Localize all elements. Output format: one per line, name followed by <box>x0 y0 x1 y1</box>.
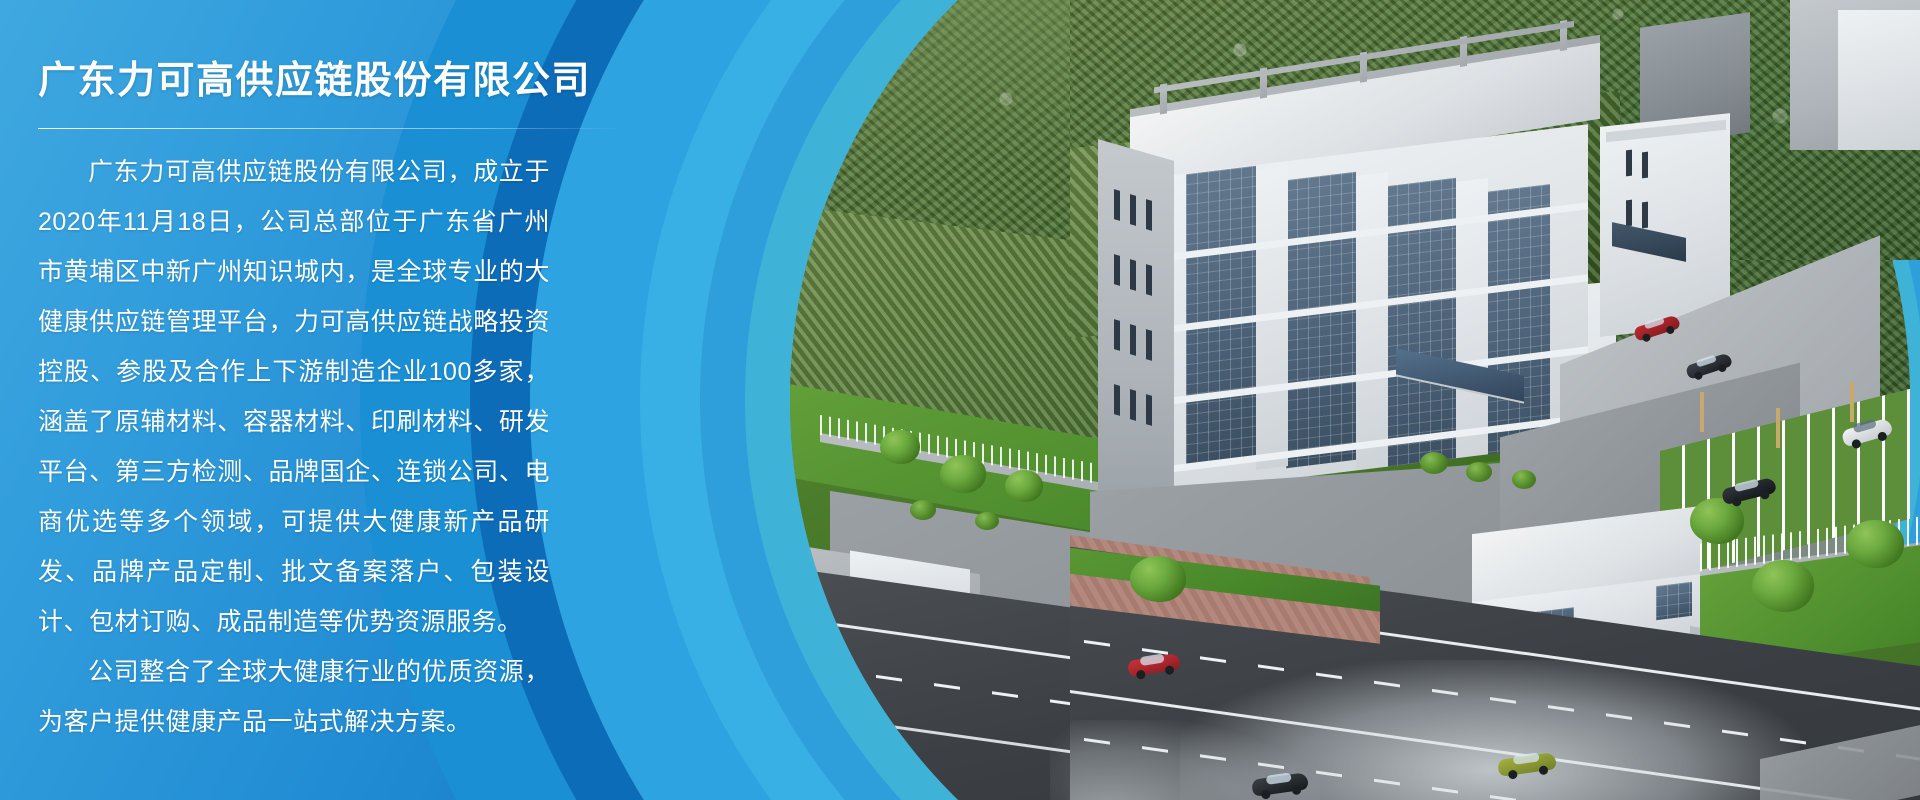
banner-root: 广东力可高供应链股份有限公司 广东力可高供应链股份有限公司，成立于2020年11… <box>0 0 1920 800</box>
intro-text-column: 广东力可高供应链股份有限公司 广东力可高供应链股份有限公司，成立于2020年11… <box>0 0 620 800</box>
description-paragraph-1: 广东力可高供应链股份有限公司，成立于2020年11月18日，公司总部位于广东省广… <box>38 147 550 647</box>
title-divider <box>38 128 624 129</box>
page-title: 广东力可高供应链股份有限公司 <box>38 58 620 106</box>
campus-scene-right <box>1070 0 1920 800</box>
campus-photo-right <box>1070 0 1920 800</box>
company-description: 广东力可高供应链股份有限公司，成立于2020年11月18日，公司总部位于广东省广… <box>38 147 550 747</box>
description-paragraph-2: 公司整合了全球大健康行业的优质资源，为客户提供健康产品一站式解决方案。 <box>38 647 550 747</box>
